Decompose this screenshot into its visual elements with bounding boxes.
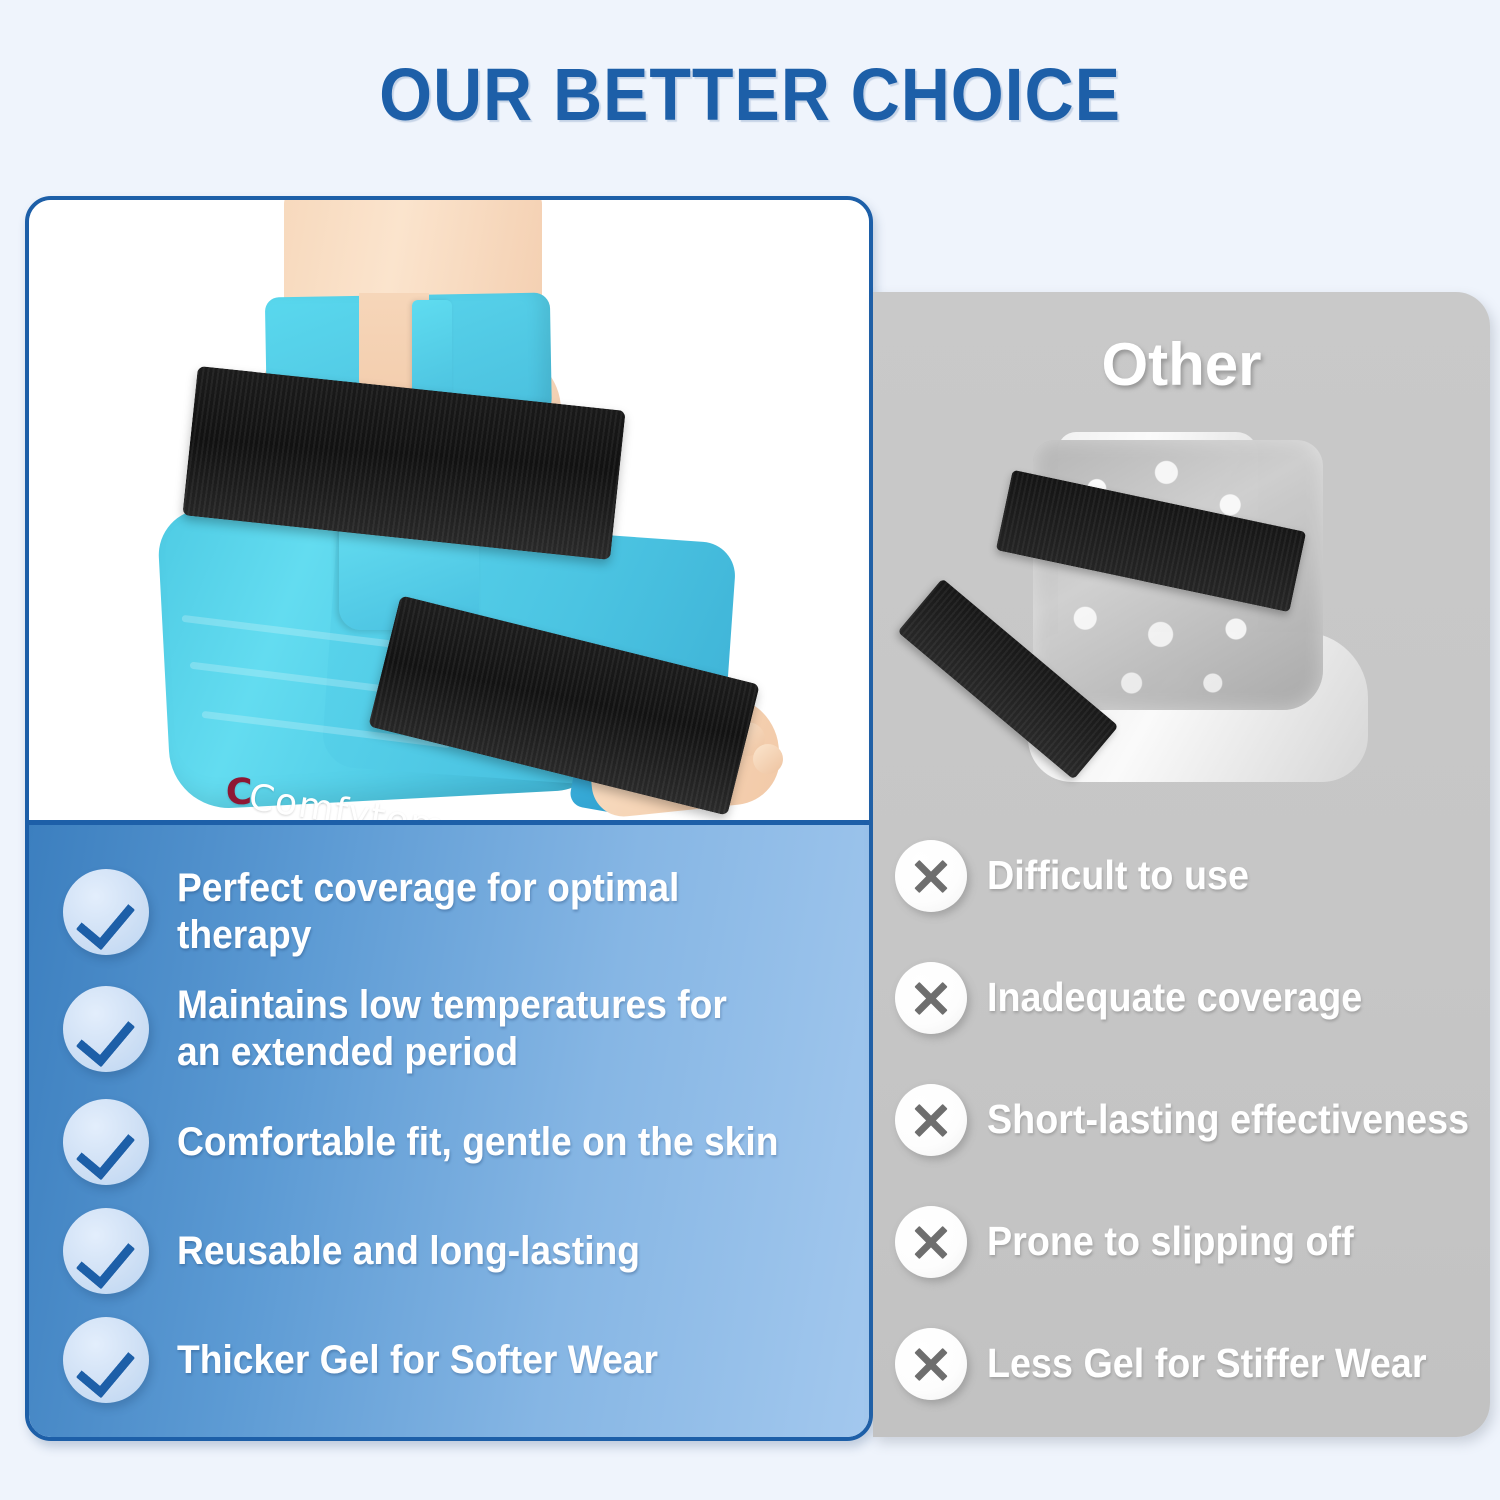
drawback-label: Less Gel for Stiffer Wear [987,1341,1427,1386]
toe [753,744,783,774]
check-icon [63,1317,149,1403]
list-item: Inadequate coverage [895,962,1472,1034]
feature-label: Maintains low temperatures for an extend… [177,982,727,1076]
list-item: Maintains low temperatures for an extend… [63,982,835,1076]
list-item: Difficult to use [895,840,1472,912]
drawback-label: Short-lasting effectiveness [987,1097,1469,1142]
feature-label: Perfect coverage for optimal therapy [177,865,789,959]
x-icon [895,962,967,1034]
our-choice-panel: CComfytemp Perfect coverage for optimal … [25,196,873,1441]
list-item: Short-lasting effectiveness [895,1084,1472,1156]
other-product-photo [873,422,1490,842]
drawback-label: Difficult to use [987,853,1249,898]
logo-swoosh-icon: C [225,772,254,813]
drawback-label: Inadequate coverage [987,975,1362,1020]
feature-label: Reusable and long-lasting [177,1228,640,1275]
x-icon [895,840,967,912]
x-icon [895,1084,967,1156]
list-item: Prone to slipping off [895,1206,1472,1278]
list-item: Reusable and long-lasting [63,1208,835,1294]
list-item: Comfortable fit, gentle on the skin [63,1099,835,1185]
other-title: Other [873,330,1490,399]
x-icon [895,1206,967,1278]
list-item: Perfect coverage for optimal therapy [63,865,835,959]
feature-label: Thicker Gel for Softer Wear [177,1337,658,1384]
our-product-photo: CComfytemp [29,200,869,820]
our-features-pane: Perfect coverage for optimal therapy Mai… [29,825,869,1437]
product-illustration: CComfytemp [29,200,869,820]
check-icon [63,986,149,1072]
list-item: Thicker Gel for Softer Wear [63,1317,835,1403]
drawback-label: Prone to slipping off [987,1219,1354,1264]
check-icon [63,1099,149,1185]
check-icon [63,869,149,955]
drawback-list: Difficult to use Inadequate coverage Sho… [873,840,1490,1400]
x-icon [895,1328,967,1400]
feature-label: Comfortable fit, gentle on the skin [177,1119,778,1166]
feature-list: Perfect coverage for optimal therapy Mai… [29,825,869,1437]
list-item: Less Gel for Stiffer Wear [895,1328,1472,1400]
check-icon [63,1208,149,1294]
page-title: OUR BETTER CHOICE [60,52,1440,137]
other-panel: Other Difficult to use Inadequate covera… [873,292,1490,1437]
